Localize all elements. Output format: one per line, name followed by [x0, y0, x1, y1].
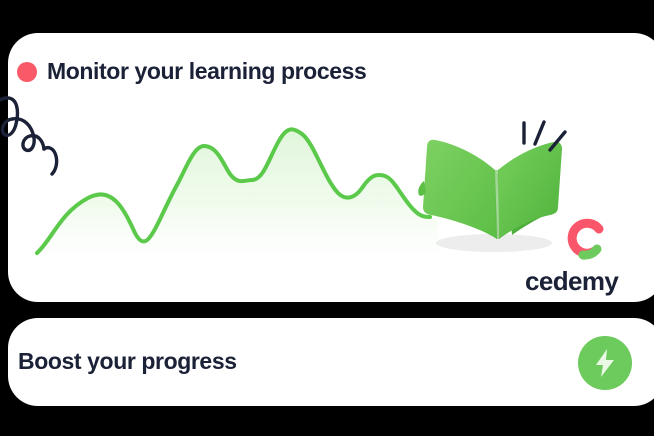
sparkle-lines-icon: [512, 115, 582, 170]
lightning-bolt-icon: [592, 348, 618, 378]
book-left-cover: [423, 140, 497, 239]
screenshot-root: Monitor your learning process: [0, 0, 654, 436]
monitor-heading-row: Monitor your learning process: [17, 60, 366, 83]
status-dot-icon: [17, 62, 37, 82]
boost-card-title: Boost your progress: [18, 350, 237, 373]
brand-name-text: cedemy: [525, 268, 618, 294]
chart-area-fill: [37, 129, 438, 269]
monitor-card-title: Monitor your learning process: [47, 60, 366, 83]
squiggle-doodle-icon: [0, 86, 66, 181]
boost-action-button[interactable]: [578, 336, 632, 390]
cedemy-c-mark-icon: [563, 216, 607, 266]
